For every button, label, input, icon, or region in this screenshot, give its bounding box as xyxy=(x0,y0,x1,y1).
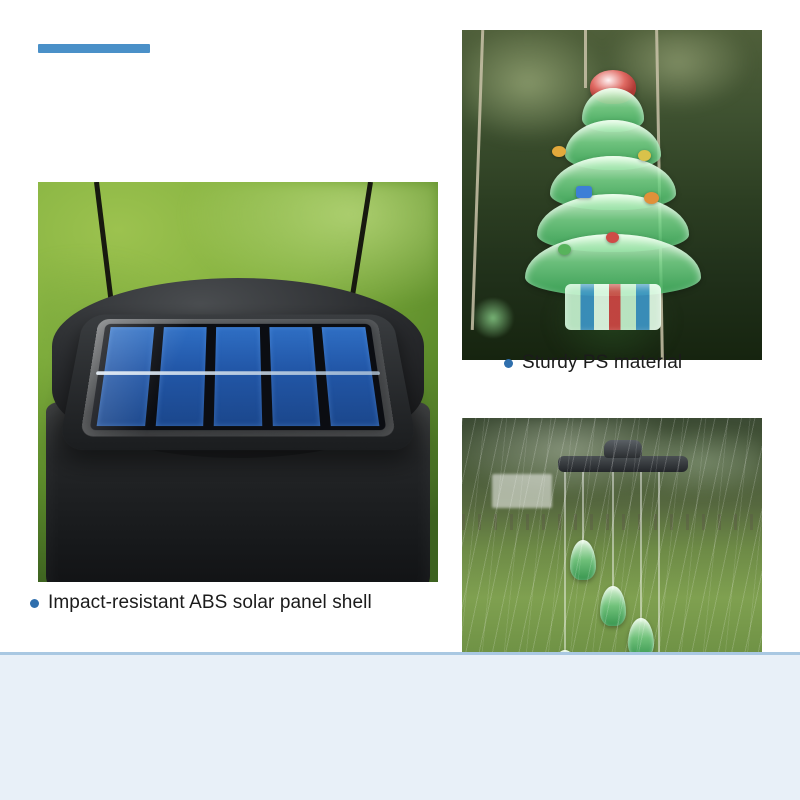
caption-ps-material: Sturdy PS material xyxy=(504,352,682,374)
photo-ps-material xyxy=(462,30,762,360)
caption-solar-panel-shell: Impact-resistant ABS solar panel shell xyxy=(30,592,372,614)
tree-ornament xyxy=(552,146,566,157)
accent-bar xyxy=(38,44,150,53)
bottom-band xyxy=(0,652,800,800)
product-feature-page: Impact-resistant ABS solar panel shell S… xyxy=(0,0,800,800)
photo-solar-panel-shell xyxy=(38,182,438,582)
glass-christmas-tree xyxy=(518,86,708,336)
caption-text: Sturdy PS material xyxy=(522,352,682,374)
tree-base-stripes xyxy=(565,284,661,330)
tree-ornament xyxy=(576,186,592,198)
solar-cell xyxy=(322,327,379,426)
glass-glint xyxy=(80,319,250,436)
tree-ornament xyxy=(644,192,659,204)
bullet-icon xyxy=(504,359,513,368)
bullet-icon xyxy=(30,599,39,608)
tree-ornament xyxy=(606,232,619,243)
bokeh-highlight xyxy=(470,298,516,338)
chime-string xyxy=(584,30,587,88)
solar-panel-glass xyxy=(80,319,396,436)
tree-ornament xyxy=(638,150,651,161)
caption-text: Impact-resistant ABS solar panel shell xyxy=(48,592,372,614)
solar-cell xyxy=(269,327,321,426)
tree-ornament xyxy=(558,244,571,255)
